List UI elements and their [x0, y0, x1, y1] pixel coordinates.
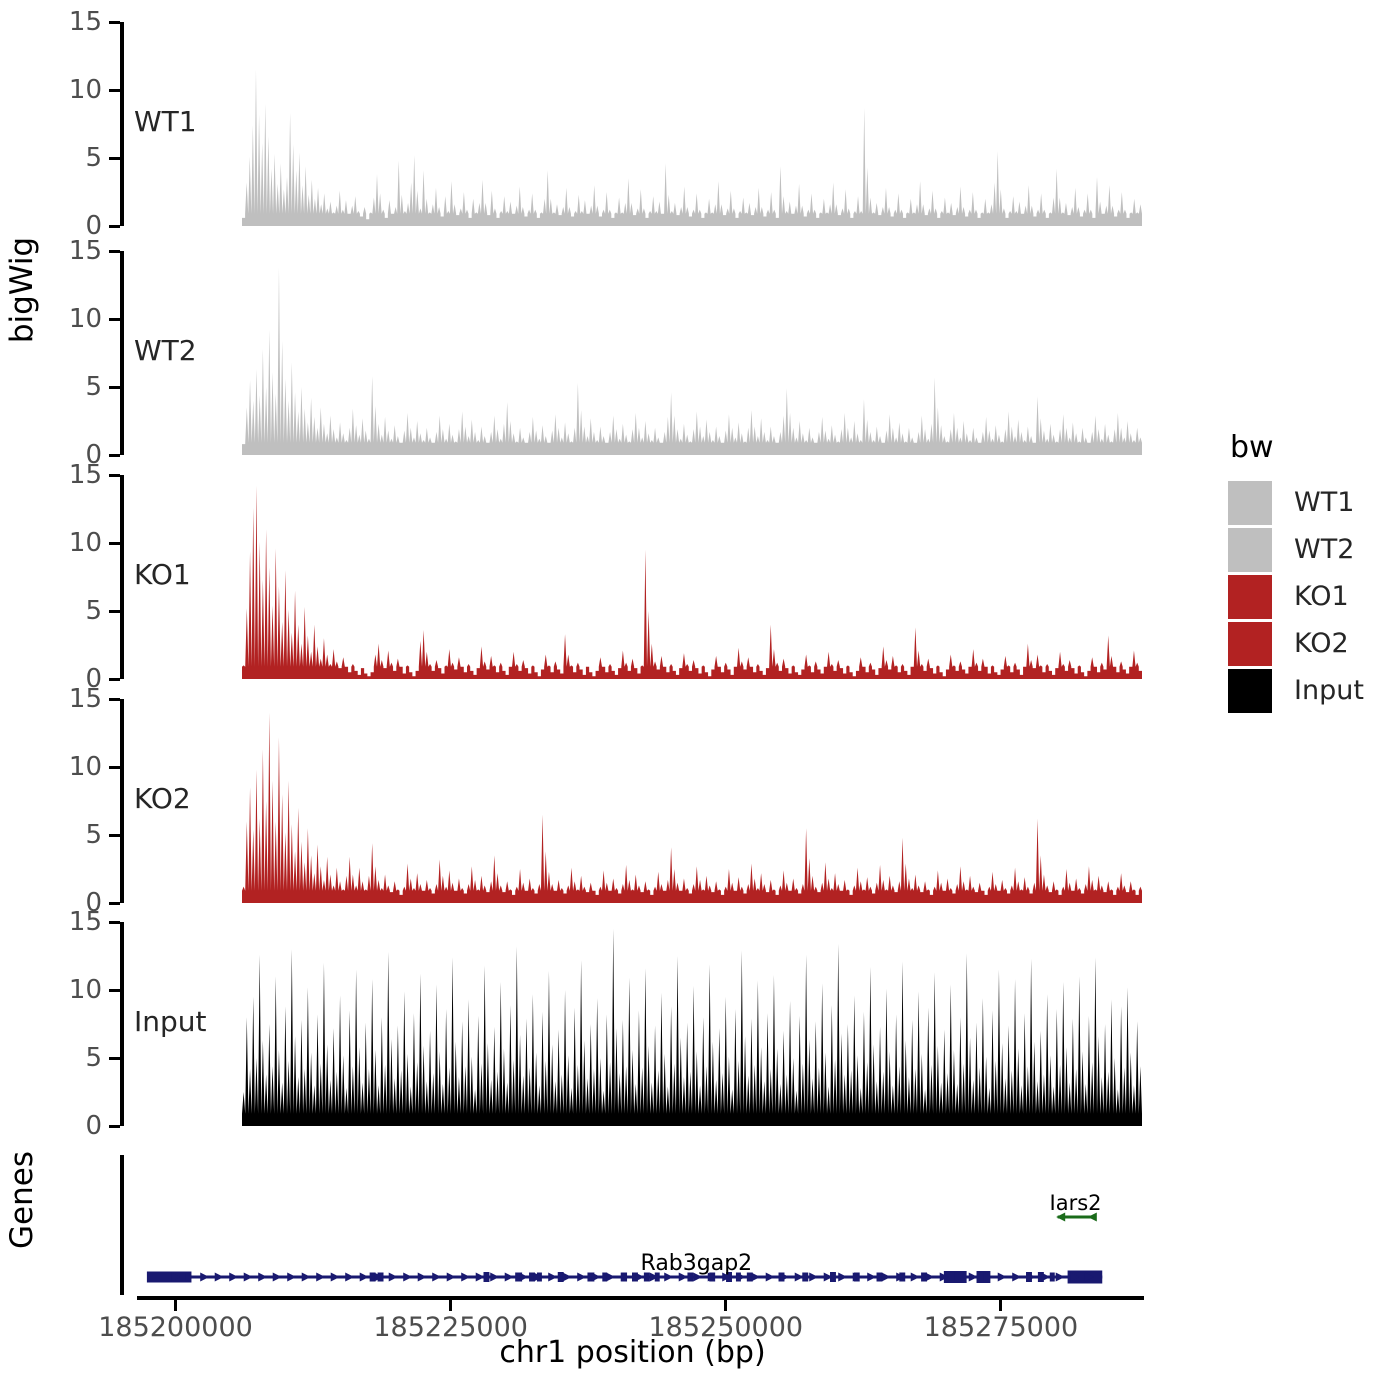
signal-area-ko1	[124, 475, 1145, 679]
x-tick	[449, 1300, 452, 1311]
y-tick	[109, 678, 120, 681]
y-tick-label: 10	[42, 754, 102, 780]
plot-area	[124, 22, 1145, 226]
y-tick-label: 15	[42, 686, 102, 712]
y-tick	[109, 157, 120, 160]
x-tick-label: 185275000	[924, 1312, 1079, 1343]
y-tick	[109, 474, 120, 477]
y-tick-label: 10	[42, 77, 102, 103]
legend-label: WT2	[1294, 534, 1354, 565]
y-tick	[109, 989, 120, 992]
legend-label: WT1	[1294, 487, 1354, 518]
x-tick	[724, 1300, 727, 1311]
legend-item-wt1[interactable]: WT1	[1228, 479, 1398, 526]
y-tick-label: 5	[42, 598, 102, 624]
gene-label-rab3gap2: Rab3gap2	[641, 1251, 753, 1276]
legend: bw WT1WT2KO1KO2Input	[1228, 430, 1398, 714]
y-tick	[109, 698, 120, 701]
plot-area	[124, 251, 1145, 455]
y-tick	[109, 766, 120, 769]
legend-swatch	[1228, 528, 1272, 572]
bigwig-panel-wt2: 151050WT2	[120, 251, 1145, 455]
plot-area	[124, 699, 1145, 903]
signal-area-ko2	[124, 699, 1145, 903]
legend-label: KO1	[1294, 581, 1349, 612]
y-axis-title-bigwig: bigWig	[4, 150, 44, 430]
signal-area-wt2	[124, 251, 1145, 455]
y-tick	[109, 318, 120, 321]
legend-swatch	[1228, 669, 1272, 713]
legend-swatch	[1228, 481, 1272, 525]
legend-label: Input	[1294, 675, 1364, 706]
bigwig-panel-ko1: 151050KO1	[120, 475, 1145, 679]
legend-label: KO2	[1294, 628, 1349, 659]
signal-area-wt1	[124, 22, 1145, 226]
legend-items: WT1WT2KO1KO2Input	[1228, 479, 1398, 714]
x-tick-label: 185200000	[98, 1312, 253, 1343]
y-tick	[109, 542, 120, 545]
y-tick	[109, 454, 120, 457]
y-tick	[109, 902, 120, 905]
y-tick	[109, 921, 120, 924]
y-tick-label: 0	[42, 1113, 102, 1139]
y-tick	[109, 89, 120, 92]
bigwig-panel-wt1: 151050WT1	[120, 22, 1145, 226]
y-tick-label: 15	[42, 9, 102, 35]
y-tick	[109, 610, 120, 613]
y-tick-label: 5	[42, 1045, 102, 1071]
y-tick-label: 15	[42, 238, 102, 264]
y-tick-label: 10	[42, 977, 102, 1003]
legend-title: bw	[1230, 430, 1398, 465]
y-tick	[109, 1057, 120, 1060]
x-axis-line	[137, 1296, 1144, 1300]
plot-area	[124, 475, 1145, 679]
legend-item-ko2[interactable]: KO2	[1228, 620, 1398, 667]
x-tick-label: 185250000	[648, 1312, 803, 1343]
gene-label-iars2: Iars2	[1050, 1191, 1102, 1215]
bigwig-panel-ko2: 151050KO2	[120, 699, 1145, 903]
x-tick	[174, 1300, 177, 1311]
legend-item-wt2[interactable]: WT2	[1228, 526, 1398, 573]
x-tick	[999, 1300, 1002, 1311]
y-tick	[109, 834, 120, 837]
y-axis-title-genes: Genes	[4, 1110, 44, 1290]
y-tick-label: 5	[42, 822, 102, 848]
legend-item-ko1[interactable]: KO1	[1228, 573, 1398, 620]
y-tick-label: 10	[42, 306, 102, 332]
y-tick-label: 15	[42, 909, 102, 935]
y-tick	[109, 225, 120, 228]
figure-root: bigWig Genes chr1 position (bp) 151050WT…	[0, 0, 1400, 1400]
legend-item-input[interactable]: Input	[1228, 667, 1398, 714]
y-tick-label: 15	[42, 462, 102, 488]
signal-area-input	[124, 922, 1145, 1126]
x-tick-label: 185225000	[373, 1312, 528, 1343]
plot-area	[124, 922, 1145, 1126]
y-tick-label: 5	[42, 145, 102, 171]
legend-swatch	[1228, 575, 1272, 619]
y-tick	[109, 1125, 120, 1128]
bigwig-panel-input: 151050Input	[120, 922, 1145, 1126]
y-tick-label: 5	[42, 374, 102, 400]
legend-swatch	[1228, 622, 1272, 666]
y-tick	[109, 250, 120, 253]
y-tick	[109, 386, 120, 389]
gene-track-panel: Rab3gap2Iars2	[120, 1155, 1145, 1295]
gene-track-svg	[124, 1155, 1145, 1295]
y-tick	[109, 21, 120, 24]
y-tick-label: 10	[42, 530, 102, 556]
